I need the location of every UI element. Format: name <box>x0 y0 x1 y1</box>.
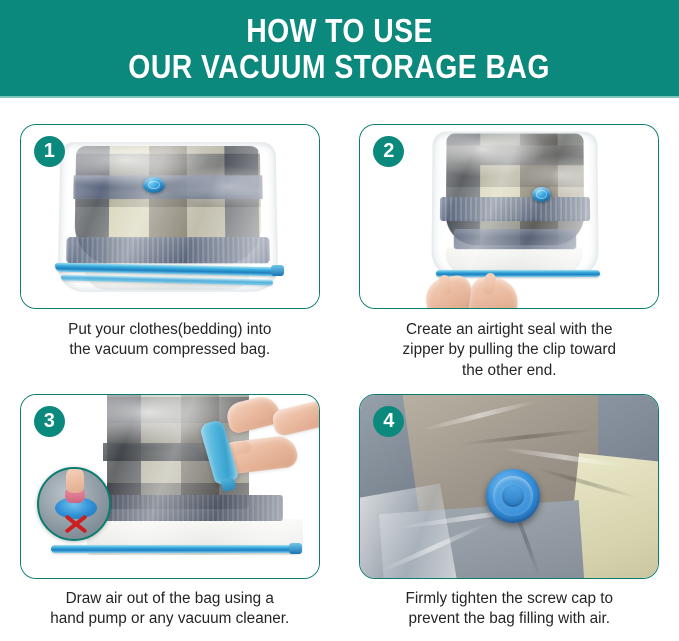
steps-grid: 1 <box>0 104 679 641</box>
step-3-card: 3 <box>20 394 320 579</box>
step-2-caption-line-2: zipper by pulling the clip toward <box>364 340 654 360</box>
step-1-card: 1 <box>20 124 320 309</box>
step-2-cell: 2 <box>340 104 679 381</box>
step-3-caption-line-1: Draw air out of the bag using a <box>25 589 315 609</box>
step-2-caption: Create an airtight seal with the zipper … <box>364 320 654 381</box>
blue-zipper-seal <box>51 545 297 553</box>
step-4-caption: Firmly tighten the screw cap to prevent … <box>364 589 654 630</box>
step-4-photo <box>360 395 658 578</box>
step-3-cell: 3 <box>0 381 340 641</box>
step-3-photo <box>21 395 319 578</box>
zipper-clip <box>289 543 302 554</box>
step-1-caption-line-2: the vacuum compressed bag. <box>25 340 315 360</box>
step-3-badge: 3 <box>34 406 65 437</box>
step-4-caption-line-2: prevent the bag filling with air. <box>364 609 654 629</box>
red-cross-icon <box>63 513 89 535</box>
bag-edge-shading <box>432 132 599 278</box>
inset-finger <box>66 467 84 493</box>
header-title-line-1: HOW TO USE <box>246 13 433 49</box>
header-banner: HOW TO USE OUR VACUUM STORAGE BAG <box>0 0 679 98</box>
header-title-line-2: OUR VACUUM STORAGE BAG <box>129 49 551 85</box>
step-1-cell: 1 <box>0 104 340 381</box>
step-2-caption-line-3: the other end. <box>364 361 654 381</box>
clear-storage-bag <box>432 132 599 278</box>
step-2-photo <box>360 125 658 308</box>
warning-inset <box>37 467 111 541</box>
step-3-caption: Draw air out of the bag using a hand pum… <box>25 589 315 630</box>
step-1-caption-line-1: Put your clothes(bedding) into <box>25 320 315 340</box>
blue-screw-cap <box>486 469 540 523</box>
step-2-caption-line-1: Create an airtight seal with the <box>364 320 654 340</box>
step-4-caption-line-1: Firmly tighten the screw cap to <box>364 589 654 609</box>
step-1-badge: 1 <box>34 136 65 167</box>
blue-valve-cap <box>143 177 165 193</box>
step-4-card: 4 <box>359 394 659 579</box>
step-3-caption-line-2: hand pump or any vacuum cleaner. <box>25 609 315 629</box>
zipper-clip <box>271 265 284 276</box>
compressed-bag-closeup <box>360 395 658 578</box>
step-1-caption: Put your clothes(bedding) into the vacuu… <box>25 320 315 361</box>
step-1-photo <box>21 125 319 308</box>
step-4-cell: 4 <box>340 381 679 641</box>
step-2-card: 2 <box>359 124 659 309</box>
